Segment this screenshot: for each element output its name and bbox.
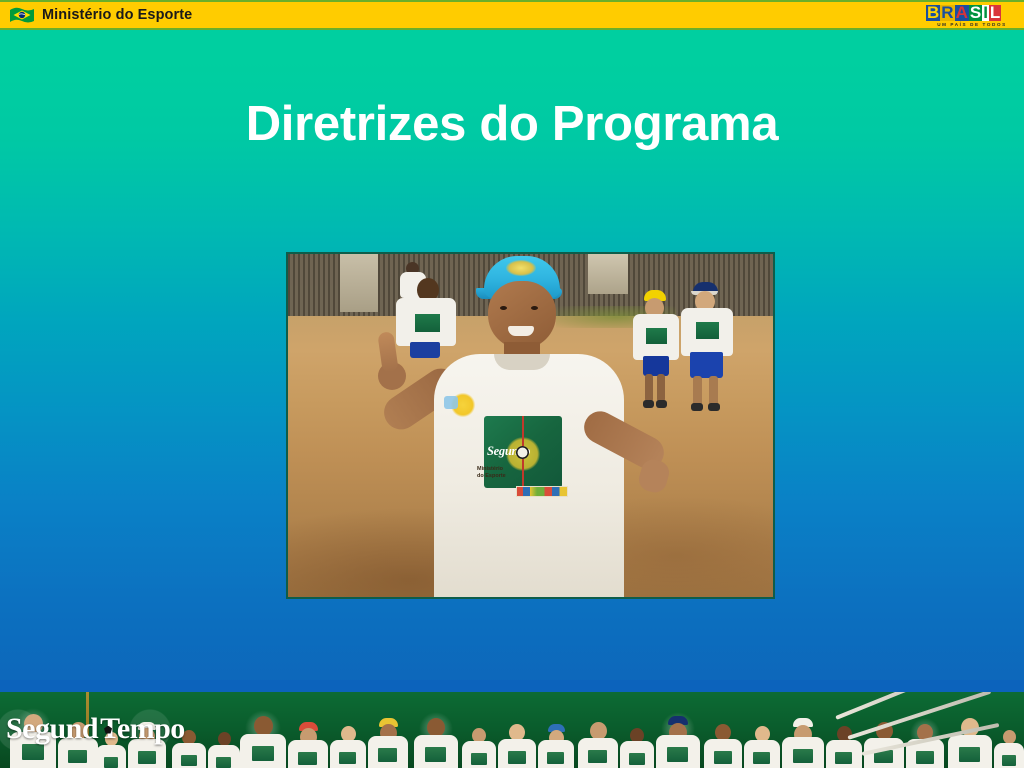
footer-band: Segund Tempo bbox=[0, 692, 1024, 768]
presentation-slide: Ministério do Esporte B R A S I L UM PAÍ… bbox=[0, 0, 1024, 768]
footer-child bbox=[538, 724, 574, 768]
child-shirt-logo bbox=[916, 751, 934, 764]
child-shirt-logo bbox=[696, 322, 719, 339]
footer-child bbox=[288, 722, 328, 768]
child-shirt-logo bbox=[714, 751, 732, 764]
child-shirt-logo bbox=[508, 751, 526, 764]
child-shirt-logo bbox=[547, 752, 564, 764]
child-shoe bbox=[691, 403, 703, 411]
brasil-letter-b: B bbox=[926, 5, 940, 21]
footer-child bbox=[414, 716, 458, 768]
footer-child bbox=[208, 730, 240, 768]
brasil-letter-s: S bbox=[969, 5, 982, 21]
child-leg bbox=[709, 376, 718, 406]
footer-child bbox=[462, 726, 496, 768]
child-shirt-logo bbox=[753, 752, 770, 764]
sleeve-sun-patch bbox=[448, 390, 478, 420]
slide-title: Diretrizes do Programa bbox=[0, 98, 1024, 152]
footer-child bbox=[620, 726, 654, 768]
footer-blue-strip bbox=[0, 680, 1024, 692]
boy-eye-left bbox=[500, 306, 507, 310]
footer-child bbox=[948, 716, 992, 768]
child-shirt-logo bbox=[835, 752, 852, 764]
brasil-letter-l: L bbox=[989, 5, 1001, 21]
child-shirt-logo bbox=[1002, 755, 1016, 766]
child-shoe bbox=[708, 403, 720, 411]
footer-logo-word-1: Segund bbox=[6, 712, 98, 746]
boy-eye-right bbox=[531, 306, 538, 310]
boy-smile bbox=[508, 326, 534, 336]
boy-face bbox=[488, 281, 556, 349]
child-head bbox=[1003, 730, 1016, 744]
footer-child bbox=[578, 720, 618, 768]
child-shirt-logo bbox=[339, 752, 356, 764]
brasil-tagline: UM PAÍS DE TODOS bbox=[926, 22, 1018, 27]
tshirt-color-strip bbox=[516, 486, 568, 497]
footer-child bbox=[782, 718, 824, 768]
footer-child bbox=[368, 718, 408, 768]
brazil-flag-icon bbox=[9, 6, 35, 25]
footer-child bbox=[240, 714, 286, 768]
footer-child bbox=[656, 716, 700, 768]
ministry-label: Ministério do Esporte bbox=[42, 7, 192, 23]
child-shirt-logo bbox=[378, 748, 397, 762]
footer-child bbox=[498, 722, 536, 768]
foreground-boy: Segundo Ministério do Esporte bbox=[376, 254, 676, 597]
photo-content: Segundo Ministério do Esporte bbox=[288, 254, 773, 597]
child-shirt-logo bbox=[425, 747, 446, 762]
header-band: Ministério do Esporte B R A S I L UM PAÍ… bbox=[0, 0, 1024, 30]
child-leg bbox=[693, 376, 702, 406]
footer-child bbox=[744, 724, 780, 768]
footer-logo-word-2: Tempo bbox=[100, 712, 185, 746]
brasil-letter-i: I bbox=[982, 5, 989, 21]
child-shirt-logo bbox=[138, 751, 156, 764]
child-shorts bbox=[690, 352, 723, 378]
header-left-group: Ministério do Esporte bbox=[0, 6, 192, 25]
footer-child bbox=[704, 722, 742, 768]
footer-child bbox=[994, 728, 1024, 768]
child-shirt-logo bbox=[252, 746, 274, 761]
cap-emblem bbox=[506, 260, 536, 276]
logo-soccer-ball-icon bbox=[516, 446, 529, 459]
wall-segment-left bbox=[340, 254, 378, 312]
footer-child bbox=[330, 724, 366, 768]
child-shirt-logo bbox=[793, 749, 813, 763]
segundo-tempo-logo: Segund Tempo bbox=[6, 706, 174, 752]
ministry-line-1: Ministério bbox=[477, 466, 503, 472]
child-shirt-logo bbox=[471, 753, 487, 765]
tshirt-ministry-text: Ministério do Esporte bbox=[477, 466, 521, 479]
child-head bbox=[218, 732, 231, 746]
child-shirt-logo bbox=[588, 750, 607, 763]
background-child-d bbox=[681, 282, 733, 414]
slide-photo: Segundo Ministério do Esporte bbox=[286, 252, 775, 599]
brasil-wordmark: B R A S I L bbox=[926, 3, 1018, 21]
brasil-letter-r: R bbox=[940, 5, 954, 21]
footer-child bbox=[826, 724, 862, 768]
child-shirt-logo bbox=[216, 757, 231, 768]
child-shirt-logo bbox=[629, 753, 645, 765]
tshirt-collar bbox=[494, 354, 550, 370]
child-shirt-logo bbox=[104, 757, 118, 768]
child-shirt-logo bbox=[959, 747, 980, 762]
child-head bbox=[254, 716, 273, 736]
ministry-line-2: do Esporte bbox=[477, 473, 506, 479]
child-shirt-logo bbox=[298, 752, 317, 765]
child-shirt-logo bbox=[667, 747, 688, 762]
child-shirt-logo bbox=[181, 755, 197, 766]
brasil-government-logo: B R A S I L UM PAÍS DE TODOS bbox=[926, 2, 1018, 28]
brasil-letter-a: A bbox=[955, 5, 969, 21]
